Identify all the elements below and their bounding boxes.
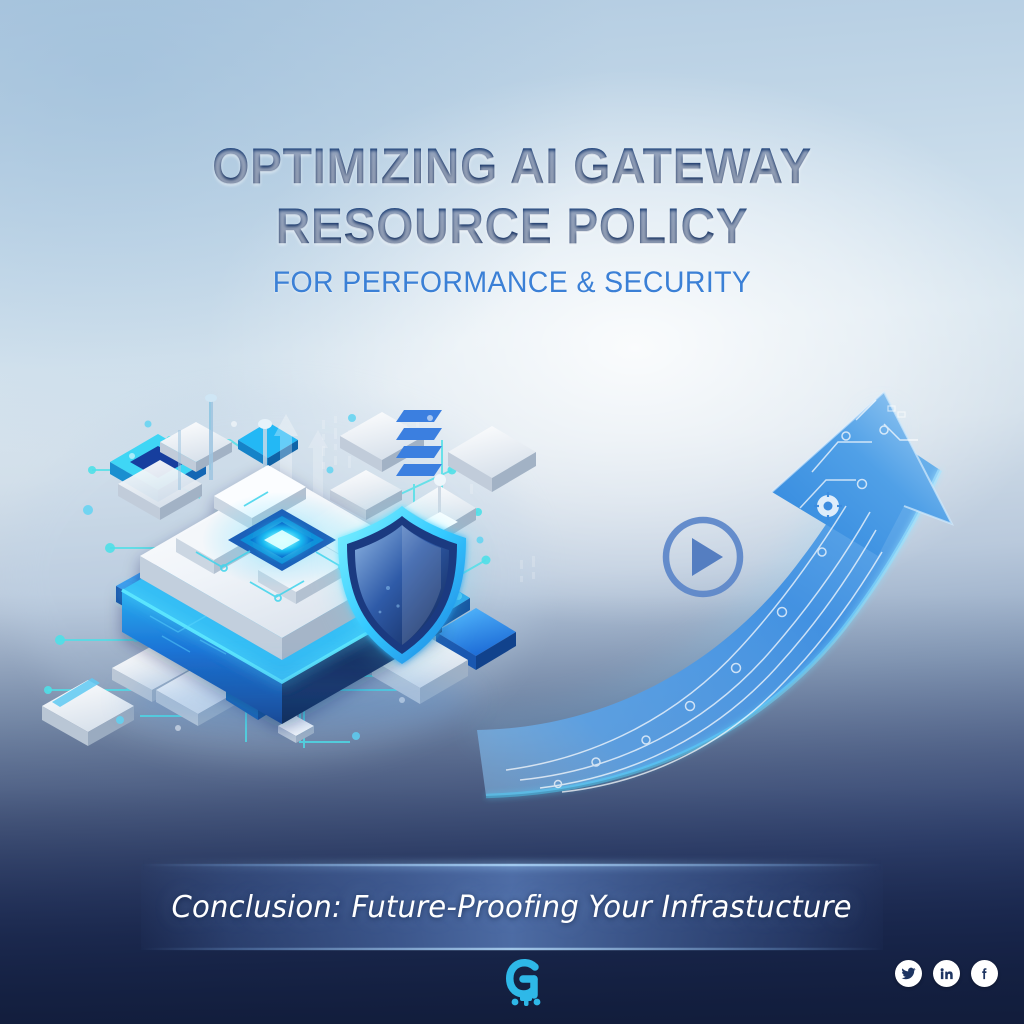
- rod-3: [178, 430, 181, 490]
- page-title-line-1: OPTIMIZING AI GATEWAY: [20, 136, 1003, 196]
- twitter-icon: [901, 966, 916, 981]
- headline-block: OPTIMIZING AI GATEWAY RESOURCE POLICY FO…: [0, 136, 1024, 300]
- social-links: [895, 960, 998, 987]
- social-link-twitter[interactable]: [895, 960, 922, 987]
- band-bottom-edge: [141, 948, 883, 950]
- g-logo-icon: [499, 955, 551, 1011]
- poster-canvas: OPTIMIZING AI GATEWAY RESOURCE POLICY FO…: [0, 0, 1024, 1024]
- play-button[interactable]: [666, 520, 740, 594]
- page-title-line-2: RESOURCE POLICY: [20, 196, 1003, 256]
- chip-ground-glow: [125, 670, 475, 730]
- social-link-facebook[interactable]: [971, 960, 998, 987]
- social-link-linkedin[interactable]: [933, 960, 960, 987]
- facebook-icon: [977, 966, 992, 981]
- page-subtitle: FOR PERFORMANCE & SECURITY: [26, 266, 999, 300]
- brand-logo[interactable]: [496, 952, 554, 1014]
- footer-caption-text: Conclusion: Future-Proofing Your Infrast…: [172, 890, 852, 925]
- footer-caption-band: Conclusion: Future-Proofing Your Infrast…: [141, 864, 883, 950]
- linkedin-icon: [939, 966, 954, 981]
- band-top-edge: [141, 864, 883, 866]
